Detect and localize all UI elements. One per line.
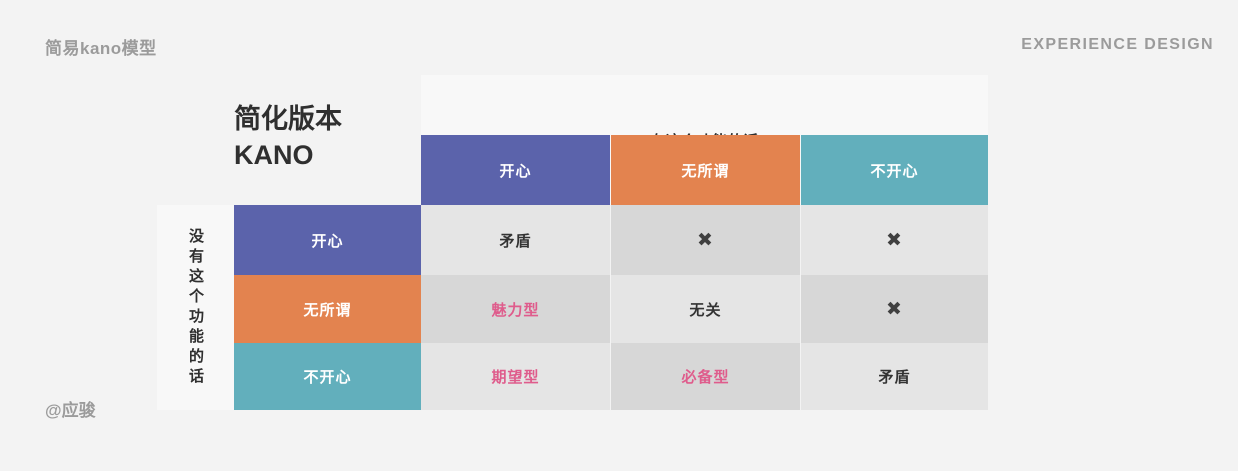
column-header-2-label: 不开心 bbox=[870, 160, 918, 181]
row-header-1-label: 无所谓 bbox=[303, 299, 351, 320]
matrix-cell-label: 期望型 bbox=[491, 366, 539, 387]
row-group-header: 没有这个功能的话 bbox=[157, 205, 234, 410]
matrix-title: 简化版本 KANO bbox=[157, 70, 421, 205]
row-header-0-label: 开心 bbox=[311, 230, 343, 251]
matrix-cell: 矛盾 bbox=[421, 205, 610, 275]
row-header-2: 不开心 bbox=[234, 343, 421, 410]
matrix-cell: 矛盾 bbox=[801, 343, 988, 410]
matrix-cell-label: 魅力型 bbox=[491, 299, 539, 320]
matrix-cell: ✖ bbox=[611, 205, 800, 275]
matrix-cell-label: 矛盾 bbox=[499, 230, 531, 251]
column-header-0: 开心 bbox=[421, 135, 610, 205]
matrix-title-line1: 简化版本 bbox=[234, 102, 421, 138]
matrix-cell-label: 必备型 bbox=[681, 366, 729, 387]
top-bar: 简易kano模型 EXPERIENCE DESIGN bbox=[0, 0, 1238, 70]
matrix-cell: 魅力型 bbox=[421, 275, 610, 343]
matrix-title-line2: KANO bbox=[234, 138, 421, 174]
author-signature: @应骏 bbox=[45, 396, 96, 421]
matrix-cell: 无关 bbox=[611, 275, 800, 343]
matrix-cell-label: ✖ bbox=[886, 229, 903, 252]
row-header-0: 开心 bbox=[234, 205, 421, 275]
row-group-header-label: 没有这个功能的话 bbox=[188, 228, 203, 388]
matrix-cell-label: 矛盾 bbox=[878, 366, 910, 387]
matrix-cell: ✖ bbox=[801, 275, 988, 343]
matrix-cell: ✖ bbox=[801, 205, 988, 275]
column-header-0-label: 开心 bbox=[499, 160, 531, 181]
brand-label: EXPERIENCE DESIGN bbox=[1021, 36, 1214, 54]
matrix-cell: 期望型 bbox=[421, 343, 610, 410]
row-header-1: 无所谓 bbox=[234, 275, 421, 343]
kano-matrix: 简化版本 KANO 有这个功能的话 开心 无所谓 不开心 没有这个功能的话 开心… bbox=[157, 70, 988, 410]
column-header-1-label: 无所谓 bbox=[681, 160, 729, 181]
column-header-2: 不开心 bbox=[801, 135, 988, 205]
page-title: 简易kano模型 bbox=[45, 34, 157, 59]
matrix-cell-label: ✖ bbox=[697, 229, 714, 252]
column-header-1: 无所谓 bbox=[611, 135, 800, 205]
matrix-cell-label: ✖ bbox=[886, 298, 903, 321]
matrix-cell-label: 无关 bbox=[689, 299, 721, 320]
row-header-2-label: 不开心 bbox=[303, 366, 351, 387]
matrix-cell: 必备型 bbox=[611, 343, 800, 410]
